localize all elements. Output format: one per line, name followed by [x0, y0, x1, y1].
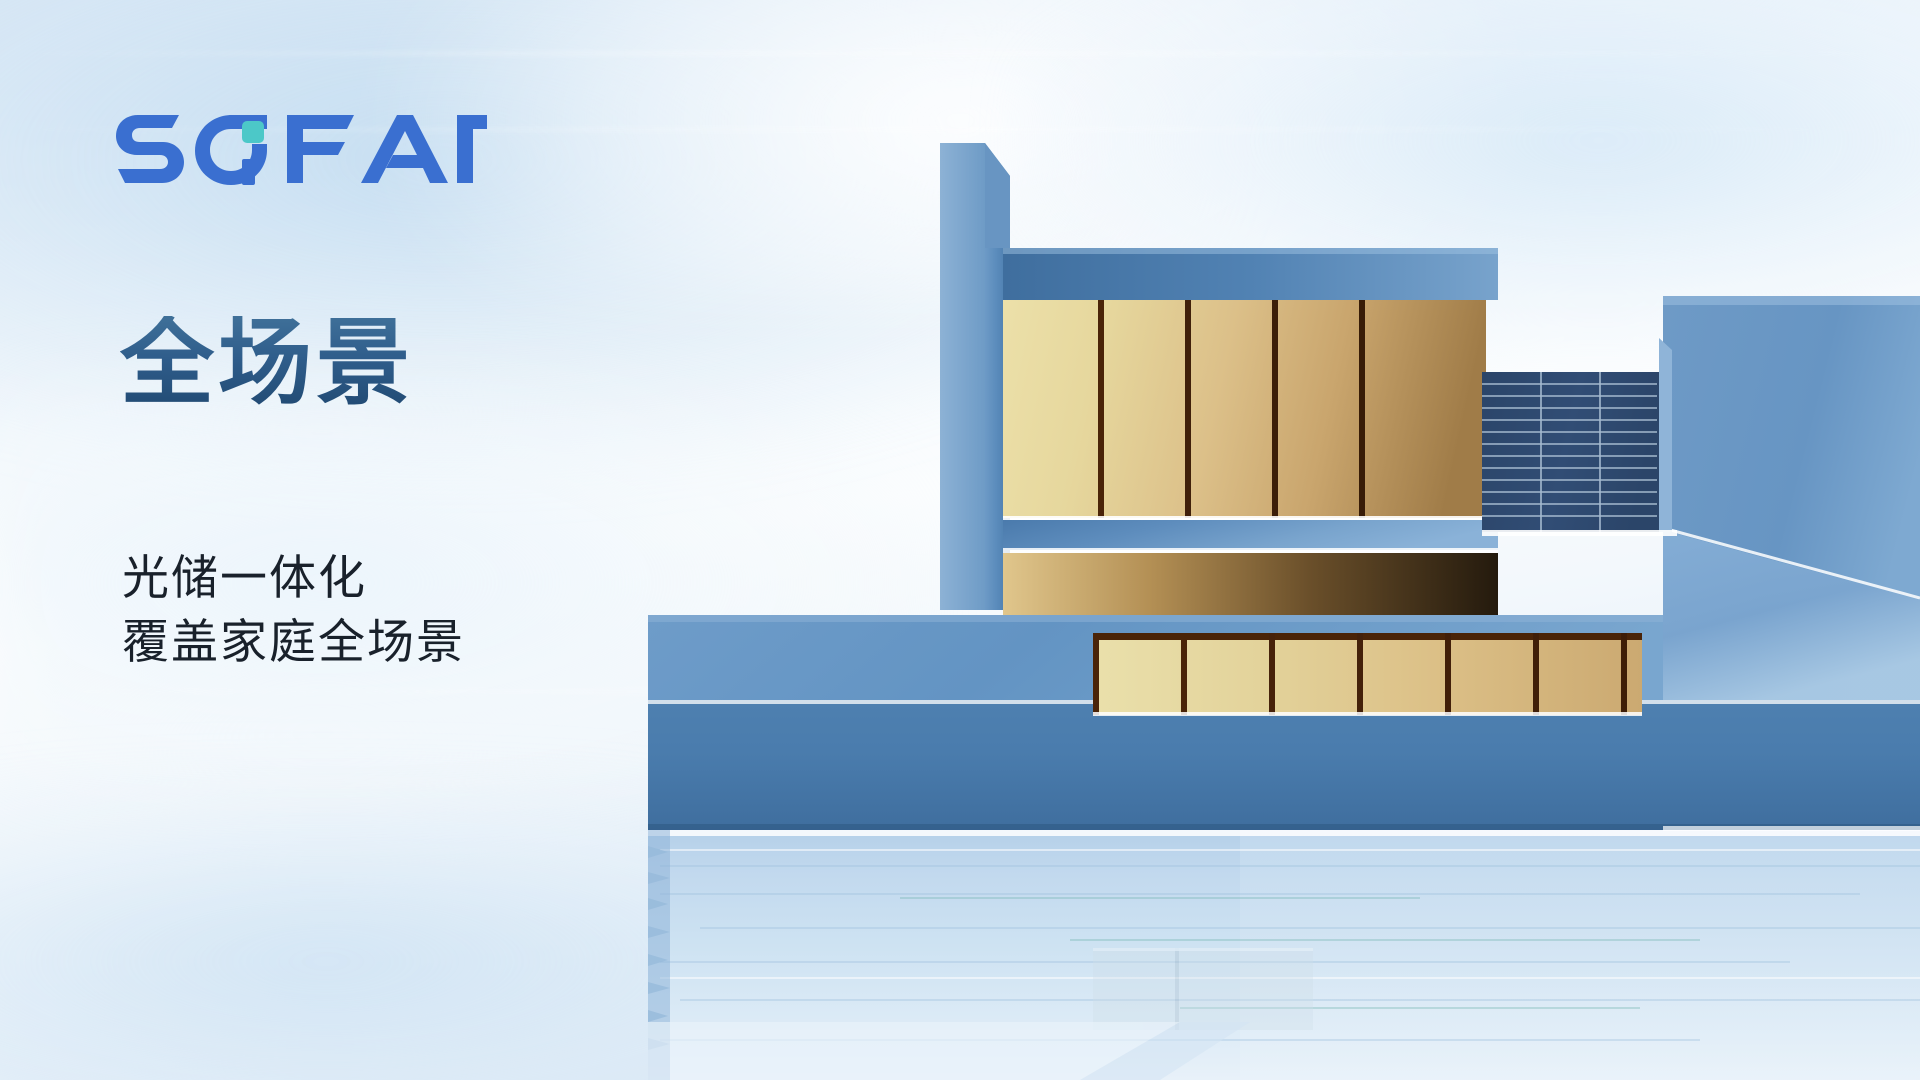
sofar-logo[interactable]: SOFAR — [116, 113, 496, 185]
subtitle-line-1: 光储一体化 — [122, 546, 465, 610]
left-vertical-fin — [940, 143, 1010, 610]
logo-wordmark — [116, 115, 487, 185]
roof-slab — [1003, 248, 1498, 300]
right-building-block — [1663, 296, 1920, 700]
hero-banner: SOFAR 全场景 光储一体化 覆盖家庭全场景 — [0, 0, 1920, 1080]
upper-shadow-strip — [1003, 520, 1498, 615]
logo-accent-square — [242, 121, 264, 143]
lower-glass-band — [1093, 633, 1642, 716]
hero-subtitle: 光储一体化 覆盖家庭全场景 — [122, 546, 465, 675]
glass-reflection — [1093, 948, 1313, 1030]
page-title: 全场景 — [120, 316, 414, 410]
solar-panel-array — [1482, 338, 1677, 536]
logo-o-stem — [242, 159, 255, 185]
subtitle-line-2: 覆盖家庭全场景 — [122, 610, 465, 674]
hero-text-column: SOFAR 全场景 光储一体化 覆盖家庭全场景 — [116, 0, 736, 1080]
water-reflection — [648, 830, 1920, 1080]
upper-glass-facade — [1003, 300, 1498, 520]
